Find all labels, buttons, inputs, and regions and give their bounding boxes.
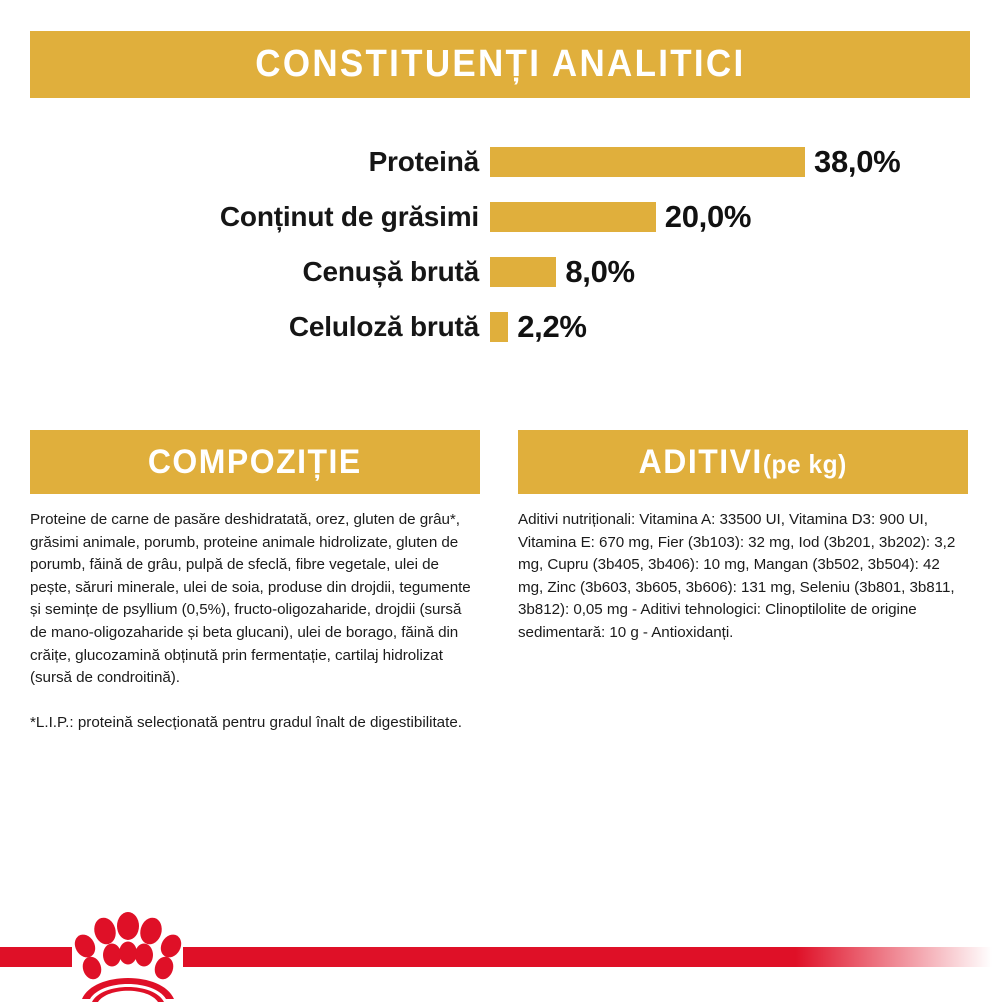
additives-column: ADITIVI(pe kg) Aditivi nutriționali: Vit…	[518, 430, 968, 734]
chart-bar-wrap: 20,0%	[490, 199, 1000, 235]
chart-bar-wrap: 8,0%	[490, 254, 1000, 290]
composition-banner: COMPOZIȚIE	[30, 430, 480, 494]
analytical-constituents-chart: Proteină 38,0% Conținut de grăsimi 20,0%…	[0, 134, 1000, 354]
page-title: CONSTITUENȚI ANALITICI	[255, 43, 745, 86]
chart-category-label: Proteină	[0, 146, 490, 178]
composition-banner-title: COMPOZIȚIE	[148, 443, 362, 482]
chart-row: Conținut de grăsimi 20,0%	[0, 189, 1000, 244]
chart-category-label: Conținut de grăsimi	[0, 201, 490, 233]
chart-value-label: 38,0%	[814, 144, 900, 180]
chart-value-label: 8,0%	[565, 254, 634, 290]
chart-bar-wrap: 2,2%	[490, 309, 1000, 345]
chart-bar	[490, 202, 656, 232]
analytical-constituents-banner: CONSTITUENȚI ANALITICI	[30, 31, 970, 98]
composition-footnote: *L.I.P.: proteină selecționată pentru gr…	[30, 712, 480, 735]
chart-category-label: Celuloză brută	[0, 311, 490, 343]
additives-banner-title: ADITIVI(pe kg)	[639, 443, 847, 482]
chart-category-label: Cenușă brută	[0, 256, 490, 288]
additives-banner-title-sub: (pe kg)	[763, 449, 847, 479]
chart-value-label: 2,2%	[517, 309, 586, 345]
royal-canin-crown-logo	[72, 911, 184, 1003]
additives-banner-title-main: ADITIVI	[639, 443, 763, 481]
footer-rule-left	[0, 947, 72, 967]
chart-row: Proteină 38,0%	[0, 134, 1000, 189]
footer-rule-right	[183, 947, 1000, 967]
details-columns: COMPOZIȚIE Proteine de carne de pasăre d…	[0, 430, 1000, 734]
composition-column: COMPOZIȚIE Proteine de carne de pasăre d…	[30, 430, 480, 734]
chart-bar	[490, 312, 508, 342]
chart-bar	[490, 147, 805, 177]
additives-banner: ADITIVI(pe kg)	[518, 430, 968, 494]
chart-value-label: 20,0%	[665, 199, 751, 235]
chart-bar-wrap: 38,0%	[490, 144, 1000, 180]
chart-row: Celuloză brută 2,2%	[0, 299, 1000, 354]
footer	[0, 905, 1000, 1000]
composition-text: Proteine de carne de pasăre deshidratată…	[30, 509, 480, 690]
chart-bar	[490, 257, 556, 287]
chart-row: Cenușă brută 8,0%	[0, 244, 1000, 299]
additives-text: Aditivi nutriționali: Vitamina A: 33500 …	[518, 509, 968, 645]
